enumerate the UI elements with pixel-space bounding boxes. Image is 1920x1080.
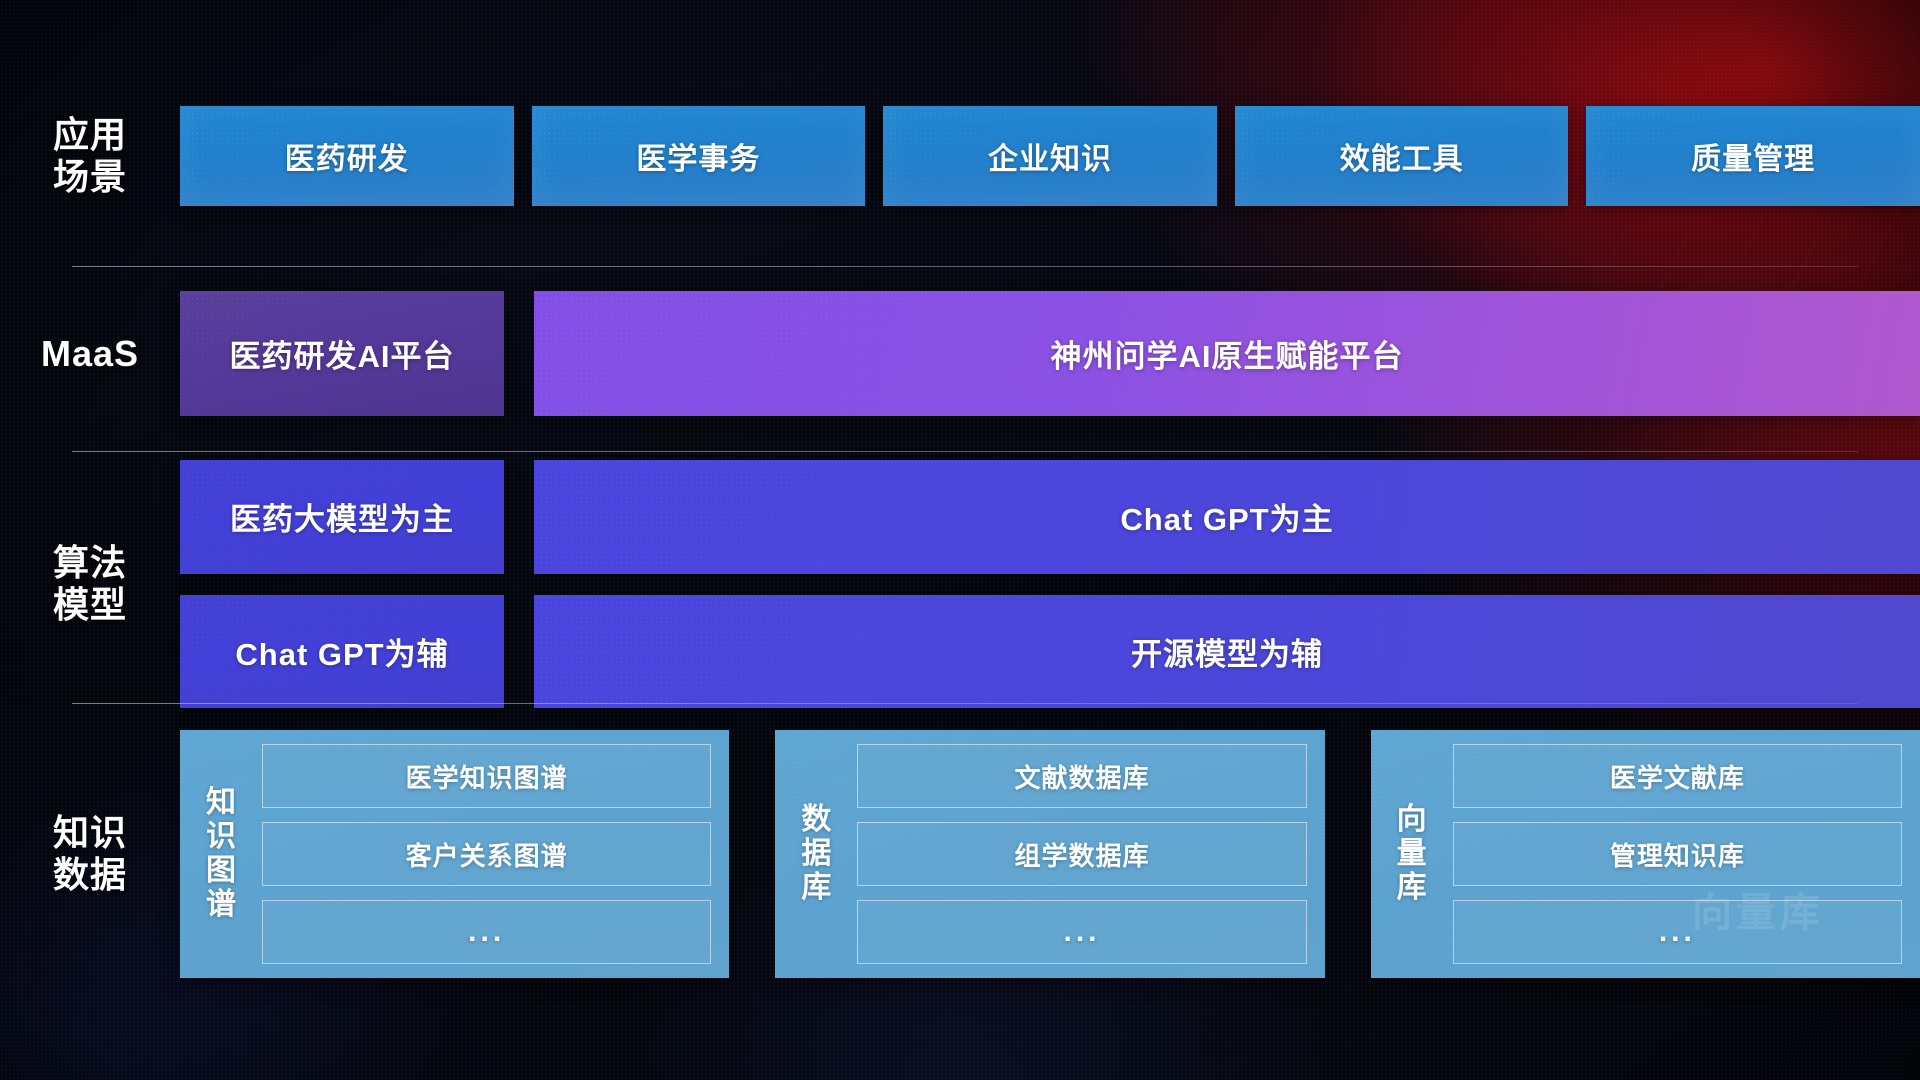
knowledge-group-items: 医学文献库 管理知识库 ... [1453, 744, 1902, 964]
knowledge-item-more[interactable]: ... [262, 900, 711, 964]
algo-card-opensource-secondary[interactable]: 开源模型为辅 [534, 595, 1920, 709]
maas-card-label: 医药研发AI平台 [230, 331, 455, 376]
app-card-efficiency-tools[interactable]: 效能工具 [1235, 106, 1569, 206]
knowledge-item[interactable]: 文献数据库 [857, 744, 1306, 808]
row-label-algorithm-models: 算法 模型 [0, 542, 180, 626]
algo-card-chatgpt-secondary[interactable]: Chat GPT为辅 [180, 595, 504, 709]
algorithm-line-primary: 医药大模型为主 Chat GPT为主 [180, 460, 1920, 574]
knowledge-group-database[interactable]: 数据库 文献数据库 组学数据库 ... [775, 730, 1324, 978]
row-divider-2 [72, 451, 1858, 452]
algorithm-line-secondary: Chat GPT为辅 开源模型为辅 [180, 595, 1920, 709]
knowledge-item[interactable]: 客户关系图谱 [262, 822, 711, 886]
app-card-enterprise-knowledge[interactable]: 企业知识 [883, 106, 1217, 206]
knowledge-item[interactable]: 医学知识图谱 [262, 744, 711, 808]
algo-card-label: 医药大模型为主 [230, 494, 454, 539]
maas-card-shenzhou-wenxue-platform[interactable]: 神州问学AI原生赋能平台 [534, 291, 1920, 416]
knowledge-group-title: 向量库 [1385, 744, 1439, 964]
knowledge-data-groups: 知识图谱 医学知识图谱 客户关系图谱 ... 数据库 文献数据库 组学数据库 .… [180, 730, 1920, 978]
knowledge-group-items: 医学知识图谱 客户关系图谱 ... [262, 744, 711, 964]
algo-card-label: Chat GPT为辅 [235, 629, 448, 674]
algo-card-label: Chat GPT为主 [1120, 494, 1333, 539]
architecture-diagram: 应用 场景 医药研发 医学事务 企业知识 效能工具 质量管理 MaaS 医药研发… [0, 0, 1920, 1080]
row-divider-1 [72, 266, 1858, 267]
app-card-drug-rd[interactable]: 医药研发 [180, 106, 514, 206]
row-algorithm-models: 算法 模型 医药大模型为主 Chat GPT为主 Chat GPT为辅 开源模型… [0, 460, 1920, 708]
knowledge-item[interactable]: 管理知识库 [1453, 822, 1902, 886]
row-knowledge-data: 知识 数据 知识图谱 医学知识图谱 客户关系图谱 ... 数据库 文献数据库 组… [0, 730, 1920, 978]
row-divider-3 [72, 703, 1858, 704]
app-card-label: 企业知识 [988, 134, 1112, 178]
row-label-application-scenarios: 应用 场景 [0, 114, 180, 198]
maas-cards: 医药研发AI平台 神州问学AI原生赋能平台 [180, 291, 1920, 416]
row-label-knowledge-data: 知识 数据 [0, 812, 180, 896]
app-card-label: 医药研发 [285, 134, 409, 178]
knowledge-group-knowledge-graph[interactable]: 知识图谱 医学知识图谱 客户关系图谱 ... [180, 730, 729, 978]
algo-card-pharma-llm-primary[interactable]: 医药大模型为主 [180, 460, 504, 574]
app-card-label: 效能工具 [1340, 134, 1464, 178]
algorithm-model-cards: 医药大模型为主 Chat GPT为主 Chat GPT为辅 开源模型为辅 [180, 460, 1920, 708]
knowledge-group-items: 文献数据库 组学数据库 ... [857, 744, 1306, 964]
knowledge-item-more[interactable]: ... [1453, 900, 1902, 964]
knowledge-item[interactable]: 组学数据库 [857, 822, 1306, 886]
app-card-quality-management[interactable]: 质量管理 [1586, 106, 1920, 206]
knowledge-item-more[interactable]: ... [857, 900, 1306, 964]
knowledge-group-title: 数据库 [789, 744, 843, 964]
app-card-label: 质量管理 [1691, 134, 1815, 178]
app-card-label: 医学事务 [636, 134, 760, 178]
knowledge-group-vector-store[interactable]: 向量库 医学文献库 管理知识库 ... [1371, 730, 1920, 978]
application-scenario-cards: 医药研发 医学事务 企业知识 效能工具 质量管理 [180, 106, 1920, 206]
maas-card-drug-rd-ai-platform[interactable]: 医药研发AI平台 [180, 291, 504, 416]
row-label-maas: MaaS [0, 333, 180, 375]
row-maas: MaaS 医药研发AI平台 神州问学AI原生赋能平台 [0, 291, 1920, 416]
algo-card-label: 开源模型为辅 [1131, 629, 1323, 674]
row-application-scenarios: 应用 场景 医药研发 医学事务 企业知识 效能工具 质量管理 [0, 106, 1920, 206]
app-card-medical-affairs[interactable]: 医学事务 [532, 106, 866, 206]
knowledge-item[interactable]: 医学文献库 [1453, 744, 1902, 808]
maas-card-label: 神州问学AI原生赋能平台 [1051, 331, 1404, 376]
algo-card-chatgpt-primary[interactable]: Chat GPT为主 [534, 460, 1920, 574]
knowledge-group-title: 知识图谱 [194, 744, 248, 964]
